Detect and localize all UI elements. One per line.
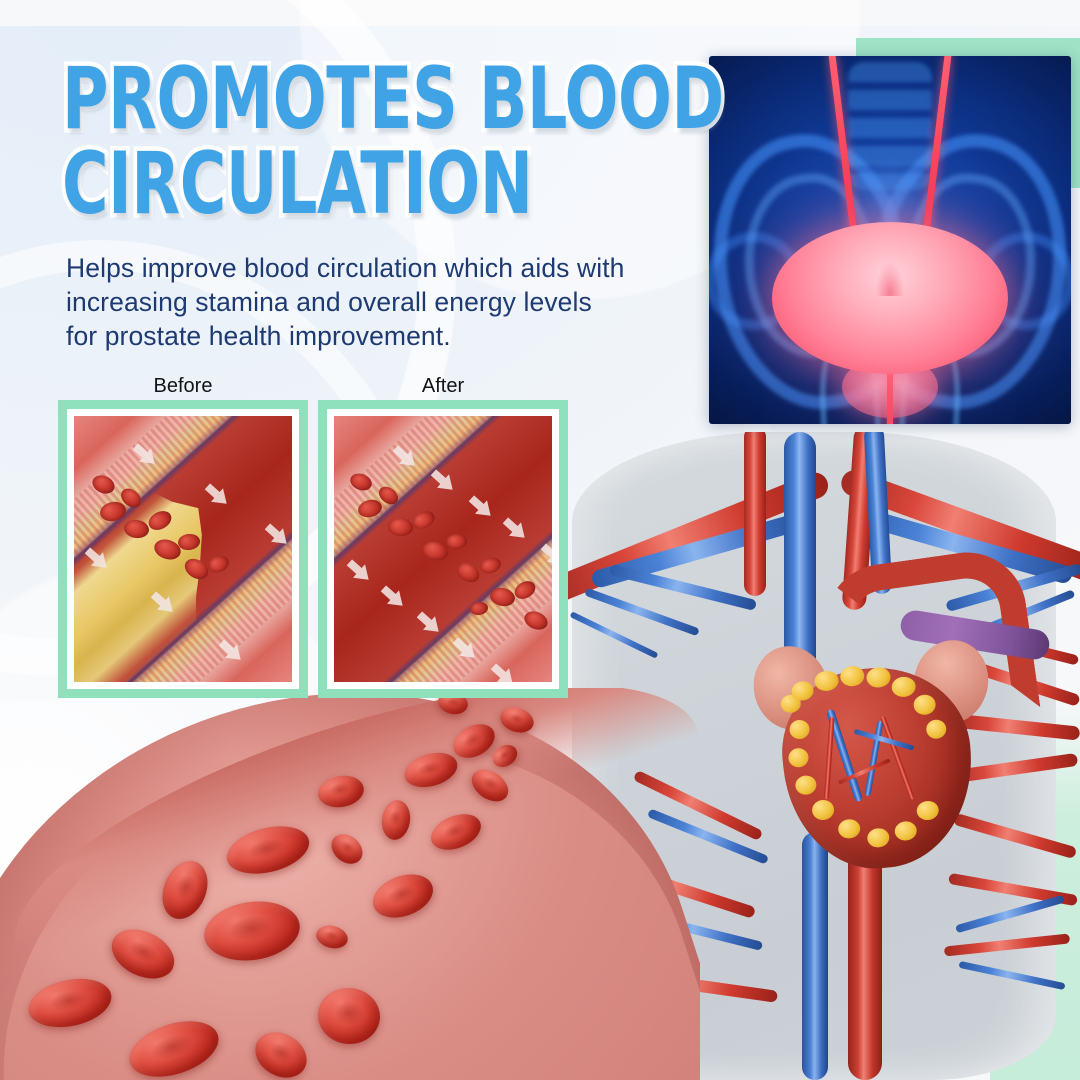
coronary-fat	[814, 670, 840, 692]
coronary-fat	[837, 818, 861, 839]
headline-line-1: PROMOTES BLOOD	[62, 60, 587, 139]
headline: PROMOTES BLOOD CIRCULATION	[62, 60, 702, 224]
after-panel	[318, 400, 568, 698]
after-panel-inner-frame	[327, 409, 559, 689]
coronary-fat	[891, 676, 917, 698]
after-label: After	[318, 375, 568, 398]
before-label: Before	[58, 375, 308, 398]
before-artery-illustration	[74, 416, 292, 682]
urethra	[887, 368, 893, 424]
bladder-highlight	[876, 262, 904, 296]
coronary-fat	[913, 694, 937, 716]
body-copy: Helps improve blood circulation which ai…	[66, 252, 691, 354]
headline-line-2: CIRCULATION	[62, 145, 587, 224]
body-copy-line-1: Helps improve blood circulation which ai…	[66, 252, 691, 286]
promo-graphic: PROMOTES BLOOD CIRCULATION Helps improve…	[0, 0, 1080, 1080]
blood-vessel-illustration	[0, 688, 700, 1080]
coronary-fat	[788, 747, 810, 768]
coronary-artery	[880, 716, 915, 800]
before-panel	[58, 400, 308, 698]
coronary-fat	[916, 800, 940, 821]
coronary-fat	[925, 719, 947, 740]
coronary-fat	[839, 665, 865, 687]
coronary-fat	[866, 827, 890, 848]
coronary-fat	[789, 719, 811, 740]
body-copy-line-3: for prostate health improvement.	[66, 320, 691, 354]
bladder	[772, 222, 1008, 374]
coronary-fat	[794, 775, 817, 796]
after-artery-illustration	[334, 416, 552, 682]
coronary-fat	[866, 666, 892, 688]
coronary-artery	[824, 717, 835, 799]
top-white-band	[0, 0, 1080, 26]
coronary-fat	[894, 820, 918, 841]
coronary-vein	[854, 729, 915, 751]
inferior-vena-cava	[802, 832, 828, 1080]
coronary-fat	[811, 799, 835, 821]
pelvis-xray-image	[709, 56, 1071, 424]
descending-aorta	[848, 832, 882, 1080]
body-copy-line-2: increasing stamina and overall energy le…	[66, 286, 691, 320]
before-panel-inner-frame	[67, 409, 299, 689]
carotid-artery-left	[744, 432, 766, 596]
